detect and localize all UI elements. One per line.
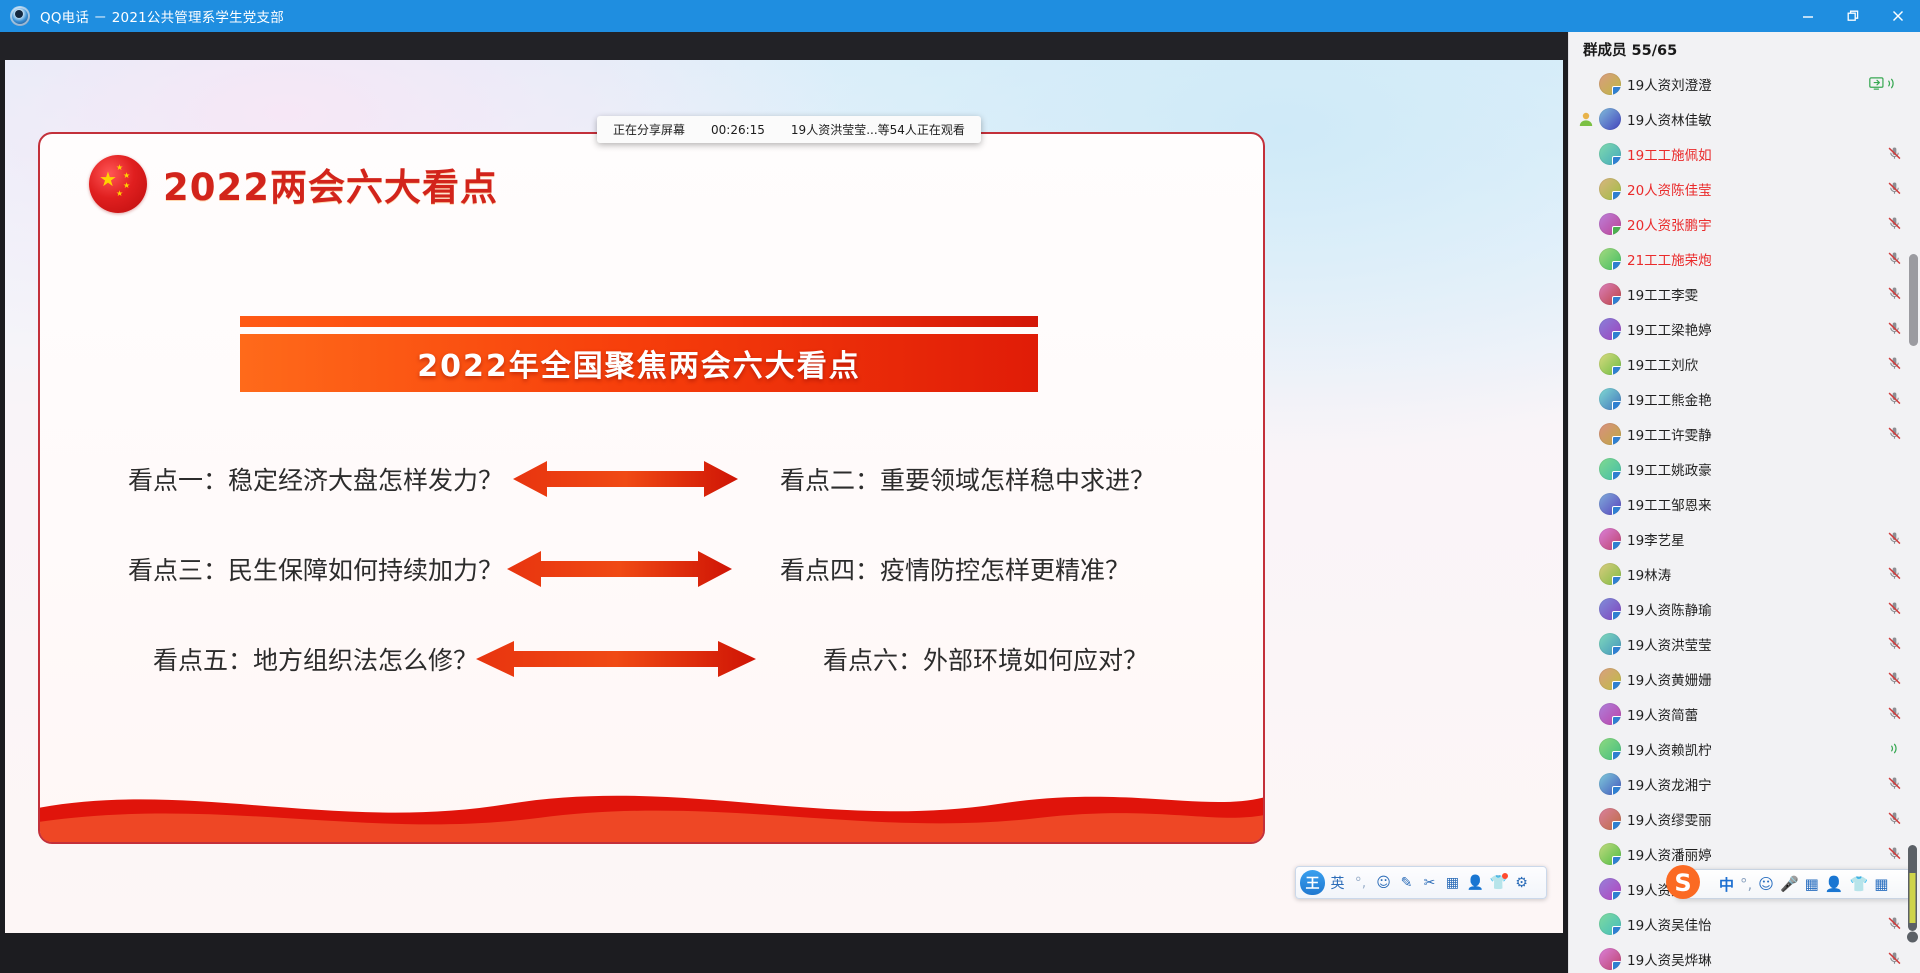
member-list-item[interactable]: 19人资简蕾 (1569, 696, 1920, 731)
mic-muted-icon (1882, 951, 1902, 966)
avatar (1599, 108, 1621, 130)
qq-call-window: QQ电话 － 2021公共管理系学生党支部 ★ (0, 0, 1920, 973)
avatar-badge-icon (1612, 646, 1621, 655)
host-badge-placeholder (1575, 773, 1597, 795)
host-badge-icon (1575, 108, 1597, 130)
host-badge-placeholder (1575, 598, 1597, 620)
member-list-item[interactable]: 19工工李雯 (1569, 276, 1920, 311)
member-name: 19工工许雯静 (1627, 424, 1712, 444)
member-name: 19工工梁艳婷 (1627, 319, 1712, 339)
share-status-bar: 正在分享屏幕 00:26:15 19人资洪莹莹...等54人正在观看 (597, 116, 981, 143)
mic-muted-icon (1882, 601, 1902, 616)
member-name: 19人资吴佳怡 (1627, 914, 1712, 934)
slide-title: 2022两会六大看点 (163, 157, 498, 211)
member-list[interactable]: 19人资刘澄澄19人资林佳敏19工工施佩如20人资陈佳莹20人资张鹏宇21工工施… (1569, 66, 1920, 973)
avatar-badge-icon (1612, 611, 1621, 620)
avatar (1599, 143, 1621, 165)
host-badge-placeholder (1575, 528, 1597, 550)
member-list-item[interactable]: 20人资张鹏宇 (1569, 206, 1920, 241)
avatar-badge-icon (1612, 261, 1621, 270)
gear-icon[interactable]: ⚙ (1511, 870, 1532, 895)
host-badge-placeholder (1575, 668, 1597, 690)
member-name: 19工工李雯 (1627, 284, 1698, 304)
avatar (1599, 388, 1621, 410)
emoji-icon[interactable]: ☺ (1373, 870, 1394, 895)
slide-points: 看点一：稳定经济大盘怎样发力？ 看点二：重要领域怎样稳中求进？ 看点三：民生保障… (40, 434, 1263, 704)
avatar-badge-icon (1612, 821, 1621, 830)
stage-top-bar (0, 32, 1568, 60)
restore-icon[interactable] (1830, 0, 1875, 32)
member-list-item[interactable]: 19工工施佩如 (1569, 136, 1920, 171)
slide-point-row: 看点五：地方组织法怎么修？ 看点六：外部环境如何应对？ (40, 614, 1263, 704)
mic-muted-icon (1882, 181, 1902, 196)
host-badge-placeholder (1575, 633, 1597, 655)
member-list-item[interactable]: 19工工梁艳婷 (1569, 311, 1920, 346)
point-5-label: 看点五：地方组织法怎么修？ (153, 641, 478, 677)
point-3-label: 看点三：民生保障如何持续加力？ (128, 551, 503, 587)
member-name: 20人资张鹏宇 (1627, 214, 1712, 234)
member-name: 19人资缪雯丽 (1627, 809, 1712, 829)
avatar-badge-icon (1612, 716, 1621, 725)
mic-muted-icon (1882, 146, 1902, 161)
member-list-item[interactable]: 19林涛 (1569, 556, 1920, 591)
punctuation-icon[interactable]: °, (1740, 875, 1752, 893)
close-icon[interactable] (1875, 0, 1920, 32)
slide-point-row: 看点三：民生保障如何持续加力？ 看点四：疫情防控怎样更精准？ (40, 524, 1263, 614)
member-list-item[interactable]: 20人资陈佳莹 (1569, 171, 1920, 206)
host-badge-placeholder (1575, 143, 1597, 165)
screen-sharing-icon (1860, 76, 1902, 91)
avatar (1599, 248, 1621, 270)
avatar (1599, 633, 1621, 655)
member-name: 19林涛 (1627, 564, 1671, 584)
point-2-label: 看点二：重要领域怎样稳中求进？ (780, 461, 1155, 497)
member-name: 19工工刘欣 (1627, 354, 1698, 374)
host-badge-placeholder (1575, 808, 1597, 830)
avatar-badge-icon (1612, 471, 1621, 480)
host-badge-placeholder (1575, 423, 1597, 445)
ppt-slide: ★ ★ ★ ★ ★ 2022两会六大看点 2022年全国聚焦两会六大看点 (38, 132, 1265, 844)
host-badge-placeholder (1575, 493, 1597, 515)
member-list-item[interactable]: 19工工邹恩来 (1569, 486, 1920, 521)
host-badge-placeholder (1575, 563, 1597, 585)
member-list-item[interactable]: 19人资潘丽婷 (1569, 836, 1920, 871)
mic-muted-icon (1882, 426, 1902, 441)
avatar-badge-icon (1612, 961, 1621, 970)
member-list-item[interactable]: 19人资刘澄澄 (1569, 66, 1920, 101)
avatar-badge-icon (1612, 891, 1621, 900)
member-list-item[interactable]: 21工工施荣炮 (1569, 241, 1920, 276)
point-6-label: 看点六：外部环境如何应对？ (823, 641, 1148, 677)
mic-muted-icon (1882, 916, 1902, 931)
mic-muted-icon (1882, 321, 1902, 336)
host-badge-placeholder (1575, 248, 1597, 270)
host-badge-placeholder (1575, 703, 1597, 725)
avatar-badge-icon (1612, 926, 1621, 935)
member-name: 21工工施荣炮 (1627, 249, 1712, 269)
avatar (1599, 878, 1621, 900)
mic-muted-icon (1882, 776, 1902, 791)
member-list-item[interactable]: 19工工姚政豪 (1569, 451, 1920, 486)
avatar (1599, 913, 1621, 935)
avatar (1599, 563, 1621, 585)
double-arrow-icon (476, 640, 756, 678)
avatar-badge-icon (1612, 191, 1621, 200)
double-arrow-icon (507, 550, 732, 588)
avatar (1599, 738, 1621, 760)
avatar-badge-icon (1612, 541, 1621, 550)
avatar-badge-icon (1612, 751, 1621, 760)
avatar-badge-icon (1612, 86, 1621, 95)
ime-logo-icon[interactable]: 王 (1300, 870, 1325, 895)
mic-muted-icon (1882, 356, 1902, 371)
slide-banner: 2022年全国聚焦两会六大看点 (240, 316, 1038, 392)
mic-muted-icon (1882, 846, 1902, 861)
share-timer: 00:26:15 (711, 123, 765, 137)
slide-point-row: 看点一：稳定经济大盘怎样发力？ 看点二：重要领域怎样稳中求进？ (40, 434, 1263, 524)
emoji-icon[interactable]: ☺ (1758, 875, 1774, 893)
avatar (1599, 843, 1621, 865)
apps-icon[interactable]: ▦ (1874, 875, 1888, 893)
avatar-badge-icon (1612, 331, 1621, 340)
pen-icon[interactable]: ✎ (1396, 870, 1417, 895)
member-list-item[interactable]: 19工工许雯静 (1569, 416, 1920, 451)
host-badge-placeholder (1575, 213, 1597, 235)
avatar-badge-icon (1612, 226, 1621, 235)
member-name: 19人资吴烨琳 (1627, 949, 1712, 969)
member-name: 19工工施佩如 (1627, 144, 1712, 164)
scissors-icon[interactable]: ✂ (1419, 870, 1440, 895)
member-name: 19人资黄姗姗 (1627, 669, 1712, 689)
avatar-badge-icon (1612, 786, 1621, 795)
avatar-badge-icon (1612, 156, 1621, 165)
skin-icon[interactable]: 👕 (1850, 875, 1869, 893)
host-badge-placeholder (1575, 878, 1597, 900)
banner-top-stripe (240, 316, 1038, 327)
point-1-label: 看点一：稳定经济大盘怎样发力？ (128, 461, 503, 497)
flag-star-big: ★ (99, 169, 117, 189)
share-status-label: 正在分享屏幕 (613, 121, 685, 138)
member-name: 19人资简蕾 (1627, 704, 1698, 724)
china-flag-icon: ★ ★ ★ ★ ★ (89, 155, 147, 213)
avatar (1599, 668, 1621, 690)
mic-muted-icon (1882, 531, 1902, 546)
avatar (1599, 773, 1621, 795)
qq-logo-icon (10, 6, 30, 26)
member-panel: 群成员 55/65 19人资刘澄澄19人资林佳敏19工工施佩如20人资陈佳莹20… (1568, 32, 1920, 973)
double-arrow-icon (513, 460, 738, 498)
member-list-item[interactable]: 19人资吴佳怡 (1569, 906, 1920, 941)
avatar-badge-icon (1612, 576, 1621, 585)
ime-mode-button[interactable]: 中 (1719, 874, 1734, 895)
avatar (1599, 948, 1621, 970)
qq-ime-toolbar[interactable]: 王 英 °, ☺ ✎ ✂ ▦ 👤 👕 ⚙ (1295, 866, 1547, 899)
avatar (1599, 213, 1621, 235)
member-list-item[interactable]: 19人资陈静瑜 (1569, 591, 1920, 626)
mic-muted-icon (1882, 671, 1902, 686)
host-badge-placeholder (1575, 843, 1597, 865)
host-badge-placeholder (1575, 283, 1597, 305)
avatar (1599, 703, 1621, 725)
mic-icon[interactable]: 🎤 (1780, 875, 1799, 893)
mic-muted-icon (1882, 566, 1902, 581)
flag-star-4: ★ (116, 190, 123, 198)
flag-star-2: ★ (123, 172, 130, 180)
member-name: 19李艺星 (1627, 529, 1685, 549)
host-badge-placeholder (1575, 178, 1597, 200)
banner-text: 2022年全国聚焦两会六大看点 (417, 341, 861, 385)
member-count-header: 群成员 55/65 (1569, 32, 1920, 66)
host-badge-placeholder (1575, 353, 1597, 375)
mic-muted-icon (1882, 811, 1902, 826)
skin-icon[interactable]: 👕 (1488, 870, 1509, 895)
ime-lang-en-button[interactable]: 英 (1327, 870, 1348, 895)
member-name: 19人资龙湘宁 (1627, 774, 1712, 794)
member-list-item[interactable]: 19人资缪雯丽 (1569, 801, 1920, 836)
member-name: 19工工熊金艳 (1627, 389, 1712, 409)
avatar-badge-icon (1612, 436, 1621, 445)
avatar-badge-icon (1612, 506, 1621, 515)
avatar-badge-icon (1612, 296, 1621, 305)
member-name: 19人资洪莹莹 (1627, 634, 1712, 654)
host-badge-placeholder (1575, 913, 1597, 935)
member-name: 19人资林佳敏 (1627, 109, 1712, 129)
svg-text:S: S (1674, 869, 1691, 897)
avatar (1599, 178, 1621, 200)
member-name: 19人资赖凯柠 (1627, 739, 1712, 759)
avatar (1599, 423, 1621, 445)
member-list-item[interactable]: 19人资吴烨琳 (1569, 941, 1920, 973)
member-list-scrollbar[interactable] (1909, 254, 1918, 346)
member-list-item[interactable]: 19工工刘欣 (1569, 346, 1920, 381)
avatar (1599, 353, 1621, 375)
mic-muted-icon (1882, 286, 1902, 301)
banner-body: 2022年全国聚焦两会六大看点 (240, 334, 1038, 392)
point-4-label: 看点四：疫情防控怎样更精准？ (780, 551, 1130, 587)
member-name: 20人资陈佳莹 (1627, 179, 1712, 199)
slide-header: ★ ★ ★ ★ ★ 2022两会六大看点 (89, 155, 498, 213)
host-badge-placeholder (1575, 318, 1597, 340)
avatar (1599, 73, 1621, 95)
member-name: 19人资陈静瑜 (1627, 599, 1712, 619)
host-badge-placeholder (1575, 73, 1597, 95)
keyboard-icon[interactable]: ▦ (1805, 875, 1819, 893)
member-list-item[interactable]: 19工工熊金艳 (1569, 381, 1920, 416)
user-icon[interactable]: 👤 (1465, 870, 1486, 895)
mic-muted-icon (1882, 636, 1902, 651)
mic-muted-icon (1882, 251, 1902, 266)
avatar (1599, 528, 1621, 550)
member-list-item[interactable]: 19李艺星 (1569, 521, 1920, 556)
flag-star-3: ★ (123, 182, 130, 190)
avatar-badge-icon (1612, 856, 1621, 865)
avatar (1599, 808, 1621, 830)
sogou-ime-toolbar[interactable]: 中 °, ☺ 🎤 ▦ 👤 👕 ▦ (1676, 869, 1911, 899)
avatar (1599, 493, 1621, 515)
avatar (1599, 283, 1621, 305)
host-badge-placeholder (1575, 388, 1597, 410)
avatar (1599, 598, 1621, 620)
member-name: 19人资刘澄澄 (1627, 74, 1712, 94)
avatar-badge-icon (1612, 366, 1621, 375)
speaking-wave-icon (1882, 741, 1902, 756)
mic-muted-icon (1882, 706, 1902, 721)
share-viewers: 19人资洪莹莹...等54人正在观看 (791, 121, 965, 138)
member-name: 19工工邹恩来 (1627, 494, 1712, 514)
member-list-item[interactable]: 19人资黄姗姗 (1569, 661, 1920, 696)
keyboard-icon[interactable]: ▦ (1442, 870, 1463, 895)
thermometer-icon (1907, 845, 1918, 945)
user-icon[interactable]: 👤 (1825, 875, 1844, 893)
mic-muted-icon (1882, 216, 1902, 231)
member-list-item[interactable]: 19人资洪莹莹 (1569, 626, 1920, 661)
host-badge-placeholder (1575, 948, 1597, 970)
banner-gap (240, 327, 1038, 334)
member-name: 19工工姚政豪 (1627, 459, 1712, 479)
sogou-logo-icon[interactable]: S (1662, 861, 1704, 903)
shared-screen-content: ★ ★ ★ ★ ★ 2022两会六大看点 2022年全国聚焦两会六大看点 (5, 60, 1563, 933)
title-bar: QQ电话 － 2021公共管理系学生党支部 (0, 0, 1920, 32)
host-badge-placeholder (1575, 458, 1597, 480)
punctuation-icon[interactable]: °, (1350, 870, 1371, 895)
member-list-item[interactable]: 19人资龙湘宁 (1569, 766, 1920, 801)
minimize-icon[interactable] (1785, 0, 1830, 32)
slide-wave-decoration (38, 774, 1265, 844)
host-badge-placeholder (1575, 738, 1597, 760)
window-title: QQ电话 － 2021公共管理系学生党支部 (40, 6, 284, 26)
member-list-item[interactable]: 19人资赖凯柠 (1569, 731, 1920, 766)
mic-muted-icon (1882, 391, 1902, 406)
avatar-badge-icon (1612, 681, 1621, 690)
member-list-item[interactable]: 19人资林佳敏 (1569, 101, 1920, 136)
screen-share-stage[interactable]: ★ ★ ★ ★ ★ 2022两会六大看点 2022年全国聚焦两会六大看点 (0, 32, 1568, 973)
avatar-badge-icon (1612, 401, 1621, 410)
avatar (1599, 458, 1621, 480)
avatar (1599, 318, 1621, 340)
